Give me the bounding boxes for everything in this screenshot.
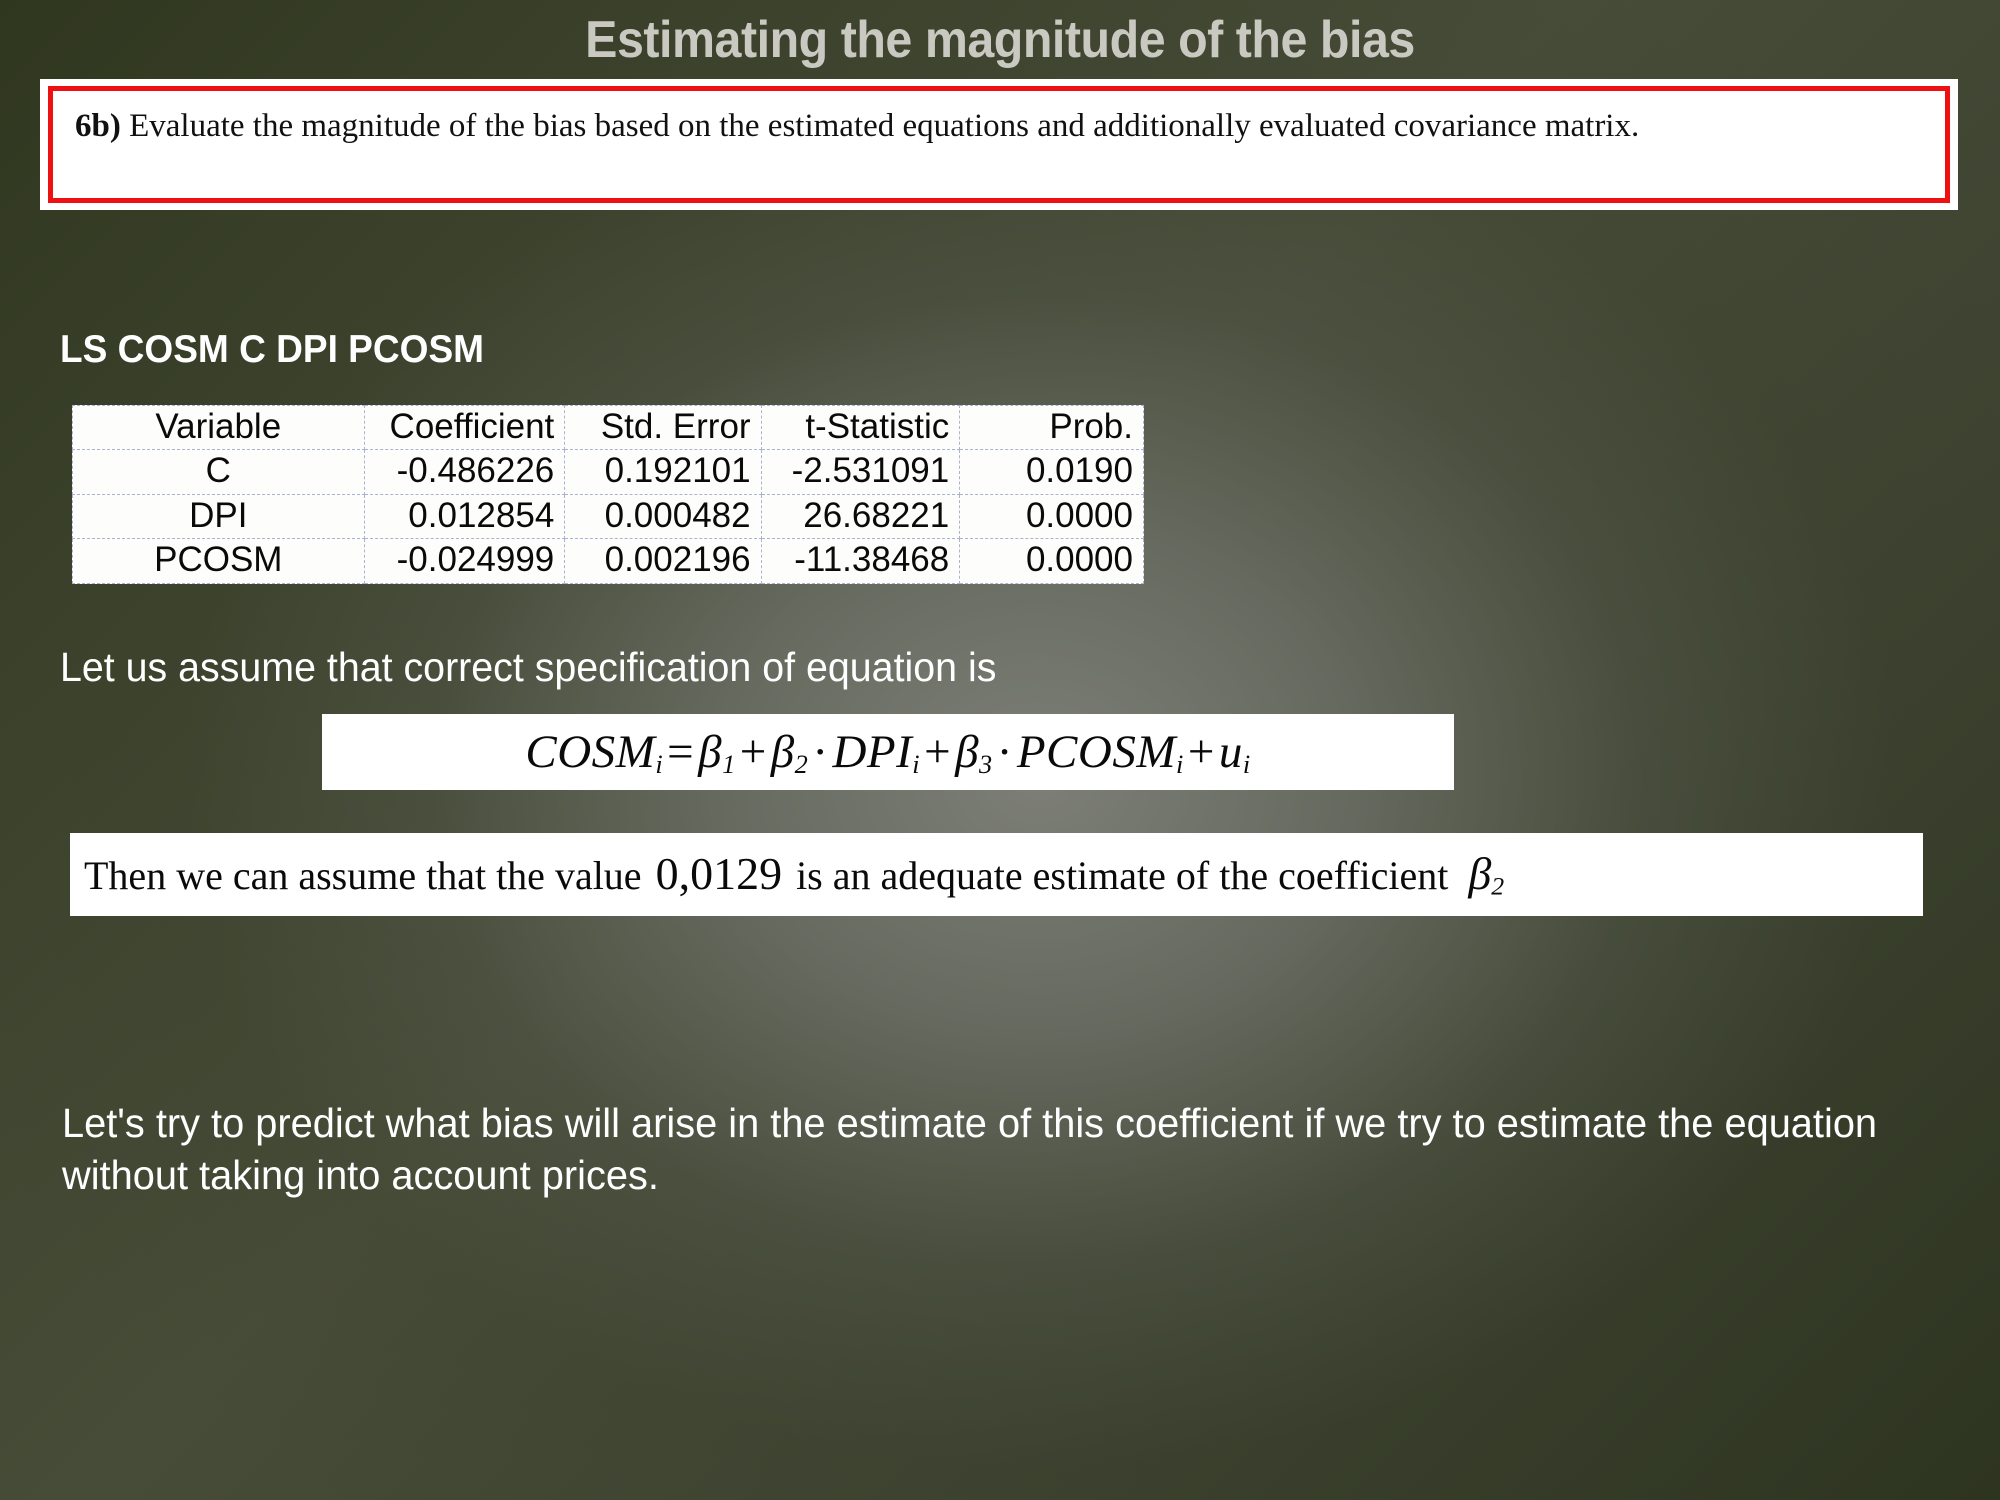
table-row: C -0.486226 0.192101 -2.531091 0.0190 [73, 450, 1144, 494]
equation-var-pcosm-subscript: i [1176, 749, 1184, 778]
equation-equals: = [663, 726, 698, 778]
table-header-row: Variable Coefficient Std. Error t-Statis… [73, 406, 1144, 450]
cell-prob: 0.0000 [960, 539, 1144, 583]
equation-dot-2: · [993, 726, 1017, 778]
equation-error-term: u [1219, 726, 1243, 778]
equation-var-pcosm: PCOSM [1017, 726, 1176, 778]
equation-var-dpi: DPI [832, 726, 912, 778]
estimate-beta-subscript: 2 [1491, 872, 1504, 901]
table-row: PCOSM -0.024999 0.002196 -11.38468 0.000… [73, 539, 1144, 583]
equation-plus-1: + [736, 726, 771, 778]
regression-table: Variable Coefficient Std. Error t-Statis… [72, 405, 1144, 584]
task-callout-box: 6b) Evaluate the magnitude of the bias b… [40, 79, 1958, 210]
cell-std-error: 0.002196 [565, 539, 761, 583]
assume-specification-text: Let us assume that correct specification… [60, 644, 996, 691]
column-header-variable: Variable [73, 406, 365, 450]
equation-beta2-subscript: 2 [795, 749, 809, 778]
cell-std-error: 0.192101 [565, 450, 761, 494]
equation-plus-2: + [920, 726, 955, 778]
slide-canvas: Estimating the magnitude of the bias 6b)… [0, 0, 2000, 1500]
equation-lhs-subscript: i [655, 749, 663, 778]
cell-t-statistic: 26.68221 [761, 494, 960, 538]
column-header-coefficient: Coefficient [364, 406, 565, 450]
estimate-statement-box: Then we can assume that the value 0,0129… [70, 833, 1923, 916]
equation-error-subscript: i [1243, 749, 1251, 778]
column-header-std-error: Std. Error [565, 406, 761, 450]
cell-prob: 0.0000 [960, 494, 1144, 538]
column-header-prob: Prob. [960, 406, 1144, 450]
estimate-statement: Then we can assume that the value 0,0129… [84, 847, 1504, 902]
task-callout-border: 6b) Evaluate the magnitude of the bias b… [48, 86, 1950, 203]
cell-variable: PCOSM [73, 539, 365, 583]
page-title: Estimating the magnitude of the bias [70, 12, 1930, 68]
cell-variable: DPI [73, 494, 365, 538]
equation-lhs: COSM [525, 726, 655, 778]
regression-output-panel: Variable Coefficient Std. Error t-Statis… [72, 405, 1144, 584]
regression-equation: COSMi=β1+β2·DPIi+β3·PCOSMi+ui [525, 725, 1250, 780]
column-header-t-statistic: t-Statistic [761, 406, 960, 450]
cell-variable: C [73, 450, 365, 494]
cell-coefficient: 0.012854 [364, 494, 565, 538]
cell-prob: 0.0190 [960, 450, 1144, 494]
equation-beta2: β [771, 726, 795, 778]
estimate-beta-glyph: β [1468, 848, 1491, 899]
ls-command-line: LS COSM C DPI PCOSM [60, 328, 484, 372]
estimate-value: 0,0129 [642, 847, 797, 900]
estimate-beta-symbol: β2 [1448, 847, 1504, 902]
cell-coefficient: -0.024999 [364, 539, 565, 583]
equation-beta1-subscript: 1 [722, 749, 736, 778]
equation-beta1: β [698, 726, 722, 778]
table-row: DPI 0.012854 0.000482 26.68221 0.0000 [73, 494, 1144, 538]
cell-t-statistic: -11.38468 [761, 539, 960, 583]
estimate-middle-text: is an adequate estimate of the coefficie… [796, 852, 1448, 899]
cell-std-error: 0.000482 [565, 494, 761, 538]
equation-box: COSMi=β1+β2·DPIi+β3·PCOSMi+ui [322, 714, 1454, 790]
equation-beta3-subscript: 3 [979, 749, 993, 778]
equation-var-dpi-subscript: i [912, 749, 920, 778]
cell-coefficient: -0.486226 [364, 450, 565, 494]
task-paragraph: 6b) Evaluate the magnitude of the bias b… [75, 105, 1923, 149]
equation-beta3: β [955, 726, 979, 778]
equation-plus-3: + [1184, 726, 1219, 778]
bottom-paragraph: Let's try to predict what bias will aris… [62, 1097, 1886, 1202]
task-label: 6b) [75, 108, 121, 144]
estimate-prefix-text: Then we can assume that the value [84, 852, 642, 899]
task-body-text: Evaluate the magnitude of the bias based… [129, 108, 1639, 144]
cell-t-statistic: -2.531091 [761, 450, 960, 494]
equation-dot-1: · [808, 726, 832, 778]
